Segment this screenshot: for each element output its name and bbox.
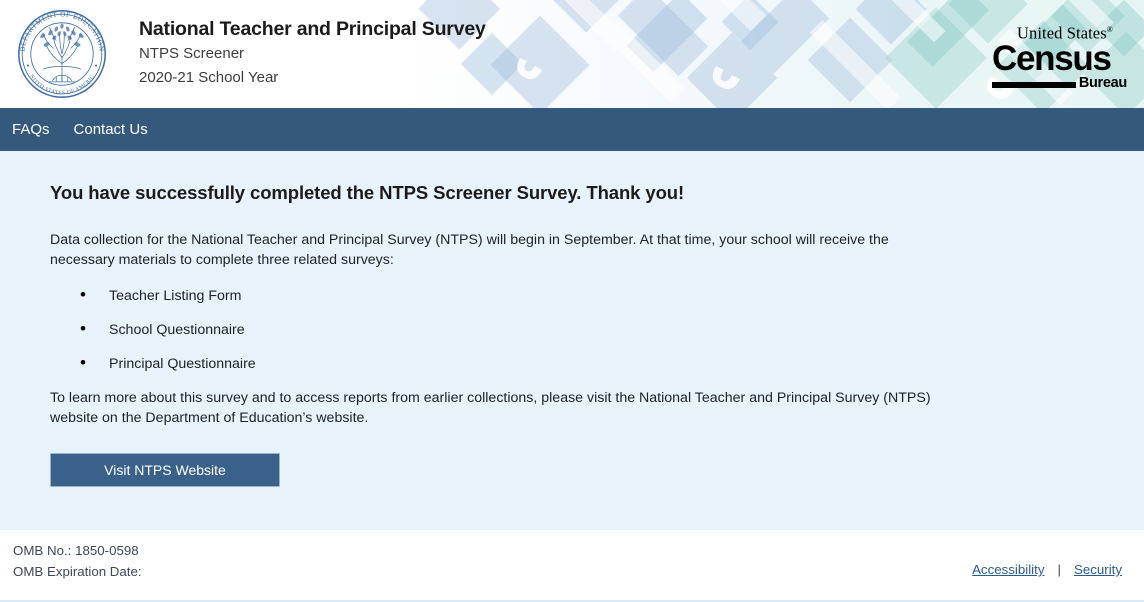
nav-item-contact-us[interactable]: Contact Us (62, 108, 160, 151)
footer-link-separator: | (1044, 562, 1073, 577)
header-titles: National Teacher and Principal Survey NT… (139, 16, 486, 92)
census-logo-bar (992, 82, 1076, 88)
main-content-area: You have successfully completed the NTPS… (0, 151, 1144, 530)
page-root: DEPARTMENT OF EDUCATION UNITED STATES OF… (0, 0, 1144, 602)
census-logo-bureau: Bureau (1079, 76, 1127, 90)
learn-more-paragraph: To learn more about this survey and to a… (50, 388, 965, 428)
census-logo-united-states: United States® (992, 21, 1127, 42)
department-of-education-seal-icon: DEPARTMENT OF EDUCATION UNITED STATES OF… (14, 6, 110, 102)
visit-ntps-website-button[interactable]: Visit NTPS Website (50, 453, 280, 487)
intro-paragraph: Data collection for the National Teacher… (50, 230, 935, 270)
page-footer: OMB No.: 1850-0598 OMB Expiration Date: … (0, 530, 1144, 602)
page-header: DEPARTMENT OF EDUCATION UNITED STATES OF… (0, 0, 1144, 108)
page-title: National Teacher and Principal Survey (139, 16, 486, 42)
page-subtitle: NTPS Screener (139, 42, 486, 66)
school-year-label: 2020-21 School Year (139, 66, 486, 90)
survey-list: Teacher Listing Form School Questionnair… (80, 286, 1104, 374)
nav-item-faqs[interactable]: FAQs (0, 108, 62, 151)
omb-number: OMB No.: 1850-0598 (13, 540, 142, 561)
census-logo-census: Census (992, 42, 1127, 75)
census-logo-bottom-row: Bureau (992, 76, 1127, 90)
accessibility-link[interactable]: Accessibility (972, 562, 1044, 577)
list-item: School Questionnaire (80, 320, 1104, 340)
omb-info: OMB No.: 1850-0598 OMB Expiration Date: (13, 540, 142, 582)
success-heading: You have successfully completed the NTPS… (50, 181, 1104, 205)
omb-expiration-date: OMB Expiration Date: (13, 561, 142, 582)
registered-mark-icon: ® (1107, 25, 1113, 34)
list-item: Teacher Listing Form (80, 286, 1104, 306)
security-link[interactable]: Security (1074, 562, 1122, 577)
footer-links: Accessibility | Security (972, 562, 1122, 577)
button-row: Visit NTPS Website (50, 453, 1104, 487)
list-item: Principal Questionnaire (80, 354, 1104, 374)
main-navigation-bar: FAQs Contact Us (0, 108, 1144, 151)
census-bureau-logo: United States® Census Bureau (992, 21, 1127, 90)
